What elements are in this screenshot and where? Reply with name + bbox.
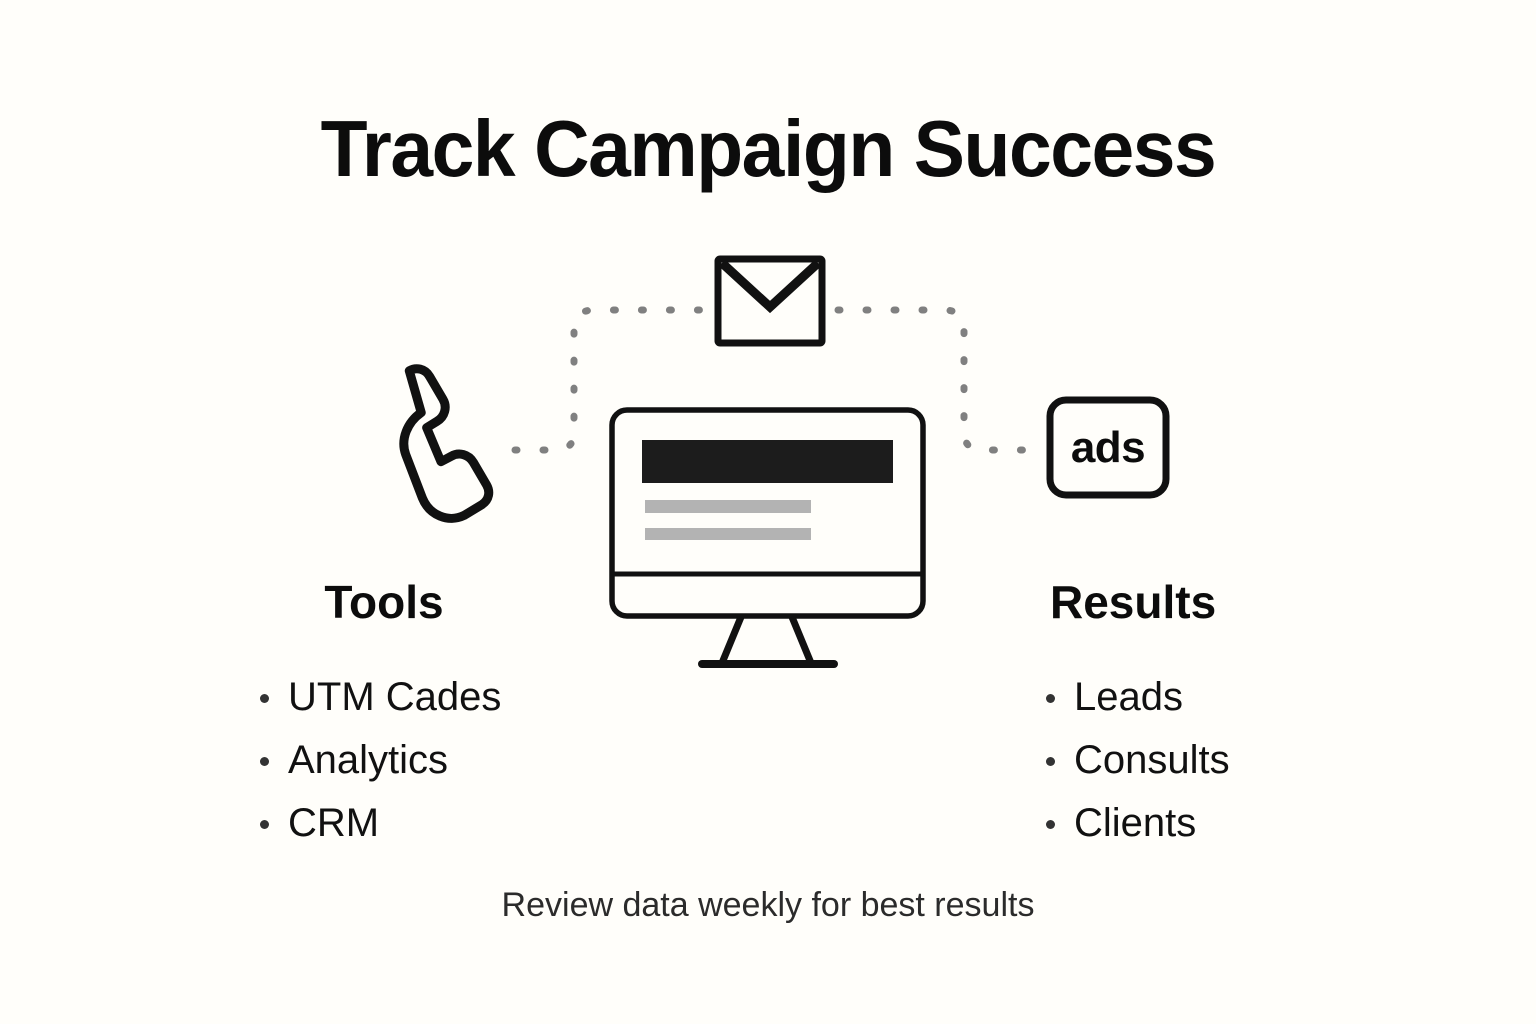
infographic-canvas: Track Campaign Success xyxy=(0,0,1536,1024)
bullet-dot-icon xyxy=(1046,820,1055,829)
campaign-diagram xyxy=(0,0,1536,1024)
list-item-label: CRM xyxy=(288,801,379,845)
list-item-label: Consults xyxy=(1074,738,1230,782)
bullet-dot-icon xyxy=(1046,757,1055,766)
results-column: Results Leads Consults Clients xyxy=(1018,574,1358,855)
bullet-dot-icon xyxy=(260,820,269,829)
bullet-dot-icon xyxy=(260,757,269,766)
list-item: UTM Cades xyxy=(232,666,572,729)
list-item: Consults xyxy=(1018,729,1358,792)
tools-heading: Tools xyxy=(232,574,572,630)
list-item-label: UTM Cades xyxy=(288,675,501,719)
footer-note: Review data weekly for best results xyxy=(0,883,1536,927)
list-item-label: Leads xyxy=(1074,675,1183,719)
list-item: CRM xyxy=(232,792,572,855)
envelope-icon xyxy=(718,259,822,343)
list-item-label: Analytics xyxy=(288,738,448,782)
screen-bar-primary xyxy=(642,440,893,483)
results-list: Leads Consults Clients xyxy=(1018,666,1358,855)
list-item: Analytics xyxy=(232,729,572,792)
tools-list: UTM Cades Analytics CRM xyxy=(232,666,572,855)
monitor-icon xyxy=(612,410,923,668)
tools-column: Tools UTM Cades Analytics CRM xyxy=(232,574,572,855)
bullet-dot-icon xyxy=(260,694,269,703)
monitor-stand-base xyxy=(698,660,838,668)
phone-icon xyxy=(385,367,508,524)
list-item-label: Clients xyxy=(1074,801,1196,845)
results-heading: Results xyxy=(1018,574,1358,630)
screen-bar-secondary-2 xyxy=(645,528,811,540)
list-item: Leads xyxy=(1018,666,1358,729)
list-item: Clients xyxy=(1018,792,1358,855)
ads-label: ads xyxy=(1050,400,1166,495)
screen-bar-secondary-1 xyxy=(645,500,811,513)
bullet-dot-icon xyxy=(1046,694,1055,703)
